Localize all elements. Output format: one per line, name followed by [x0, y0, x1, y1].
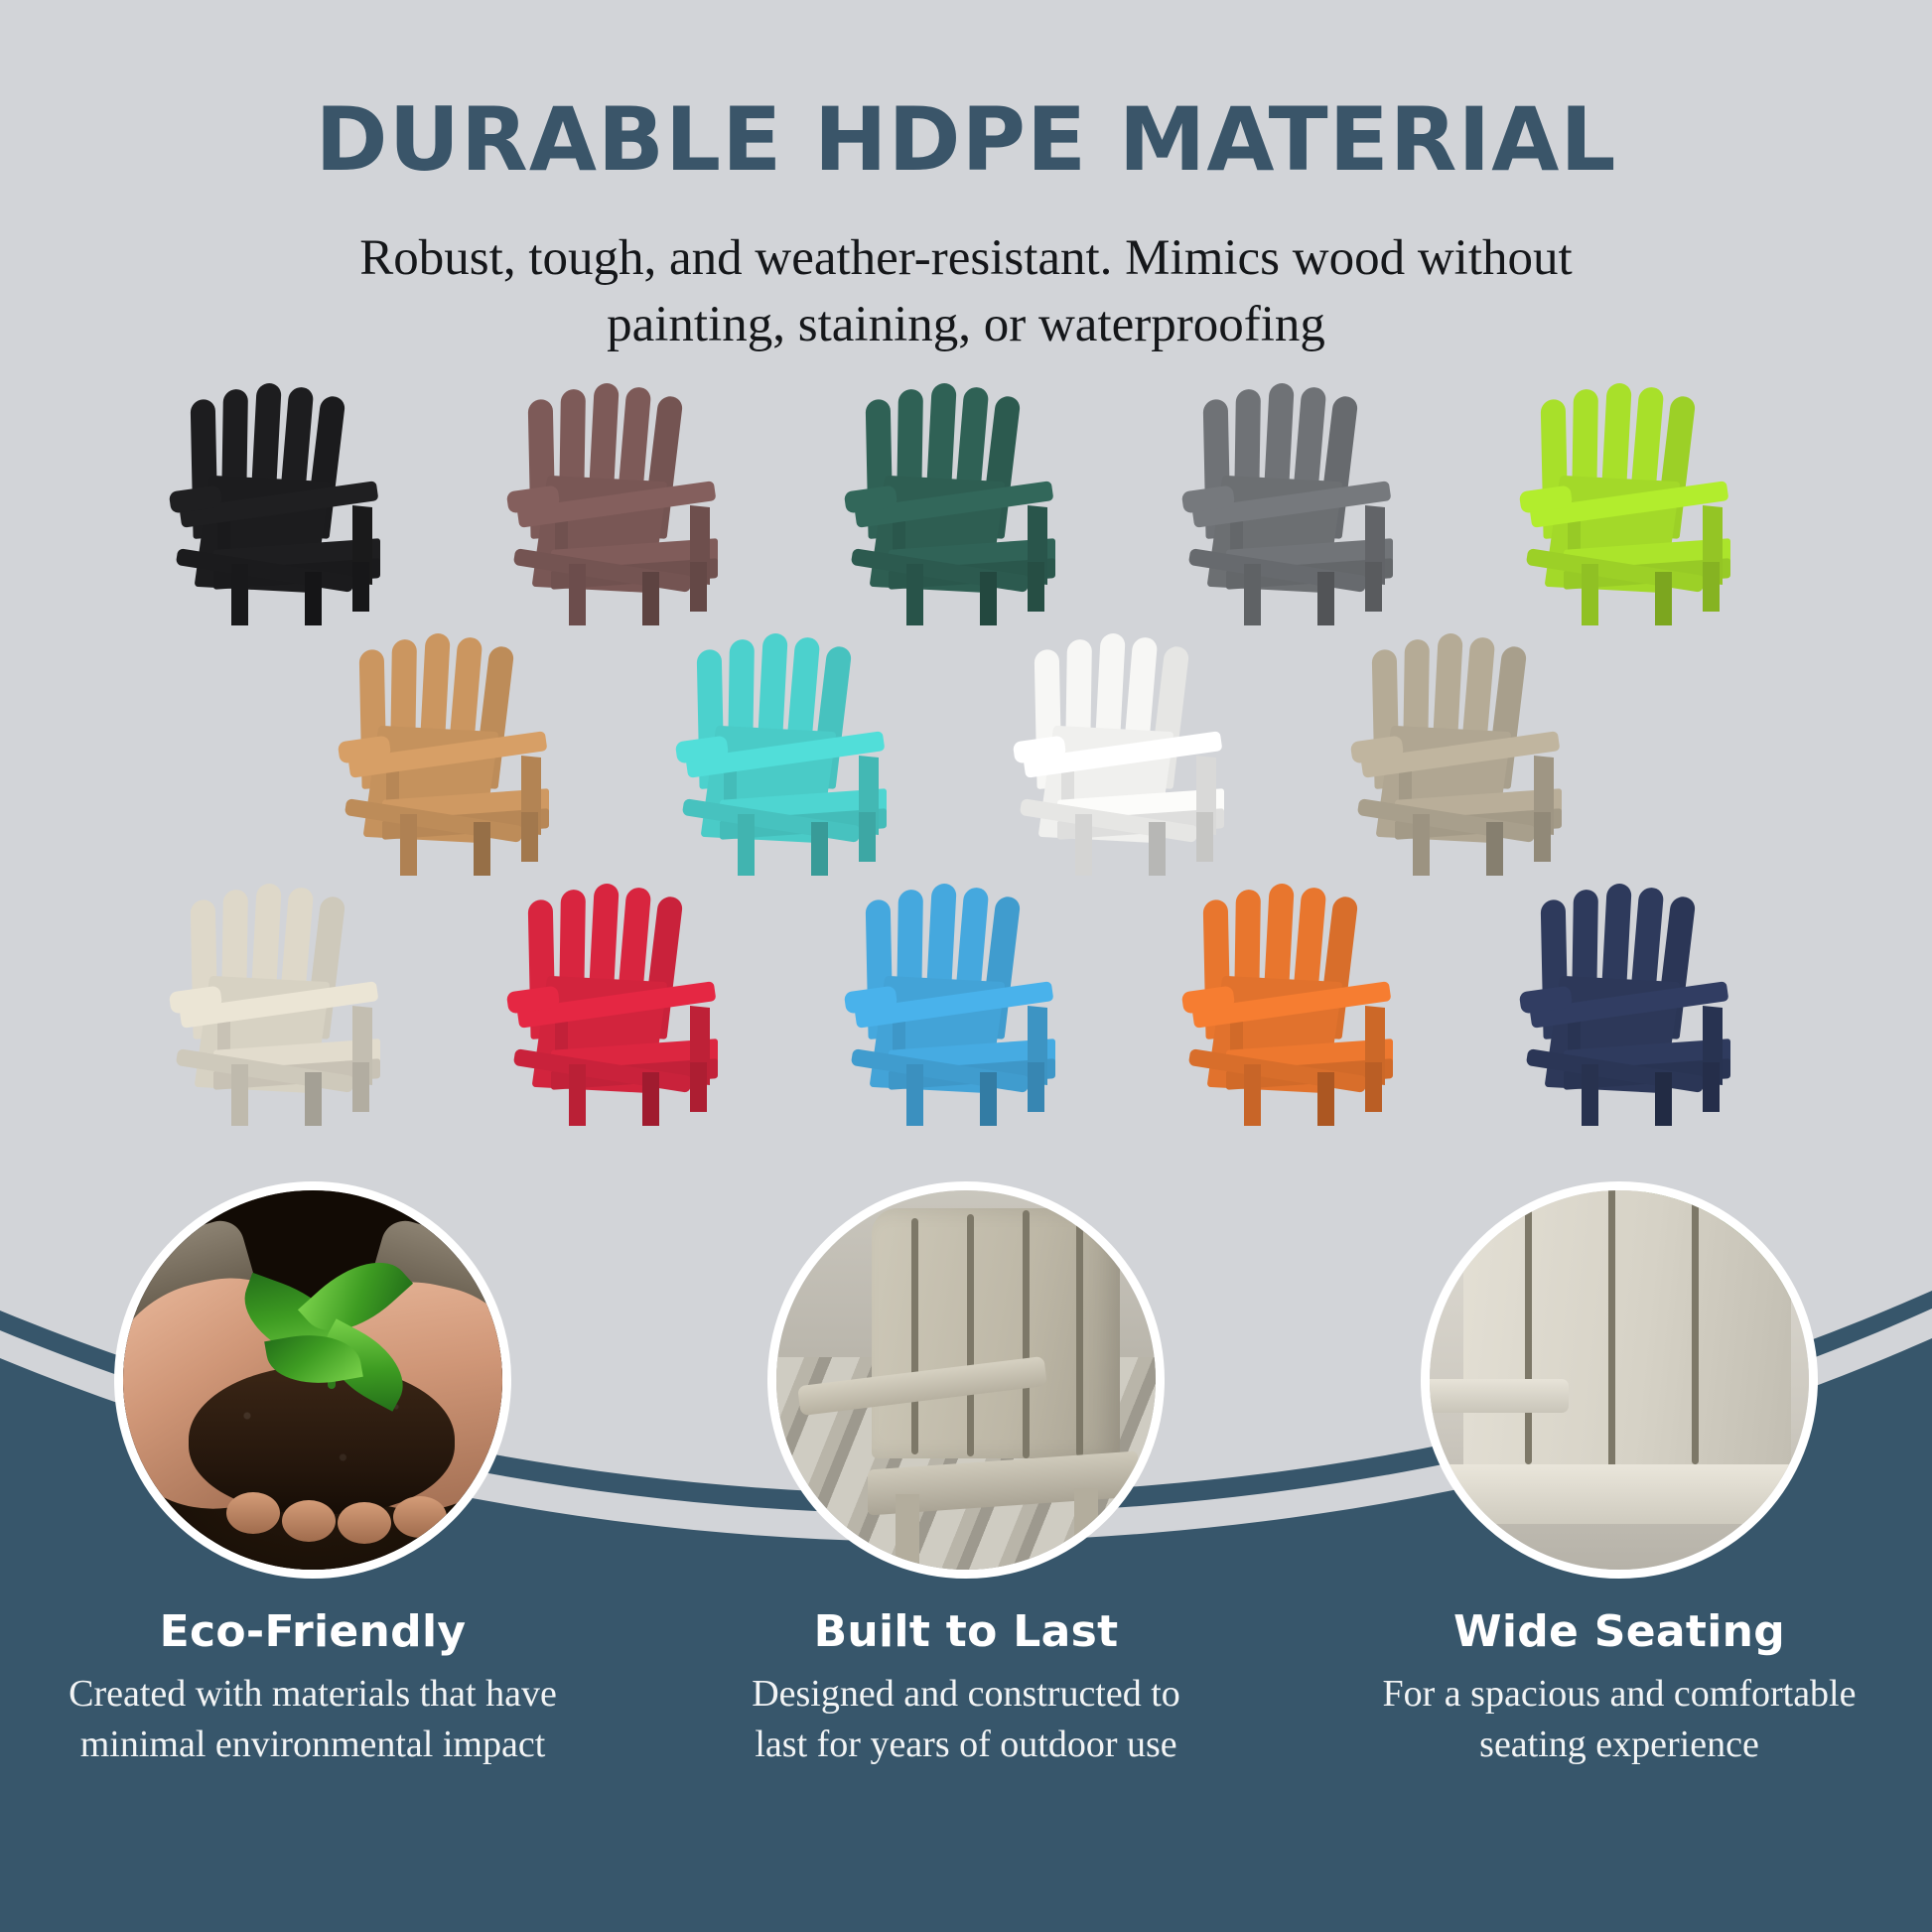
feature-photo-built-to-last — [767, 1181, 1165, 1579]
feature-title: Built to Last — [698, 1606, 1234, 1657]
chair-leg — [352, 562, 369, 612]
infographic-canvas: DURABLE HDPE MATERIAL Robust, tough, and… — [0, 0, 1932, 1932]
chair-leg — [1703, 562, 1720, 612]
feature-body-line-2: seating experience — [1351, 1720, 1887, 1770]
chair-leg — [1413, 814, 1430, 876]
chair-leg — [1582, 1064, 1598, 1126]
finger — [338, 1502, 391, 1544]
chair-row-1 — [0, 367, 1932, 623]
wide-seat-photo — [1430, 1190, 1809, 1570]
chair-leg — [569, 1064, 586, 1126]
feature-row: Eco-Friendly Created with materials that… — [0, 1181, 1932, 1769]
chair-leg — [1365, 1062, 1382, 1112]
chair-leg — [231, 564, 248, 625]
chair-leg — [690, 562, 707, 612]
chair-swatch-turquoise[interactable] — [664, 618, 930, 874]
adirondack-chair — [1339, 618, 1605, 874]
chair-leg — [859, 812, 876, 862]
feature-body: Designed and constructed to last for yea… — [698, 1669, 1234, 1769]
adirondack-chair — [833, 868, 1099, 1124]
chair-leg — [1196, 812, 1213, 862]
chair-backrest — [1463, 1181, 1791, 1478]
chair-leg — [1365, 562, 1382, 612]
chair-leg — [1317, 572, 1334, 625]
chair-leg — [896, 1494, 919, 1579]
chair-armrest — [1421, 1379, 1569, 1413]
chair-leg — [906, 564, 923, 625]
chair-row-2 — [0, 618, 1932, 874]
chair-leg — [642, 572, 659, 625]
chair-swatch-orange[interactable] — [1171, 868, 1437, 1124]
chair-leg — [305, 572, 322, 625]
finger — [393, 1496, 447, 1538]
chair-swatch-ivory[interactable] — [158, 868, 424, 1124]
chair-leg — [690, 1062, 707, 1112]
feature-body-line-2: minimal environmental impact — [45, 1720, 581, 1770]
chair-leg — [1534, 812, 1551, 862]
adirondack-chair — [1508, 868, 1774, 1124]
chair-swatch-red[interactable] — [495, 868, 761, 1124]
features-section: Eco-Friendly Created with materials that… — [0, 1181, 1932, 1769]
chair-leg — [980, 1072, 997, 1126]
patio-chair-photo — [776, 1190, 1156, 1570]
adirondack-chair — [664, 618, 930, 874]
feature-body-line-1: Designed and constructed to — [698, 1669, 1234, 1720]
chair-swatch-lime-green[interactable] — [1508, 367, 1774, 623]
back-slat-gap — [1525, 1181, 1532, 1464]
chair-leg — [811, 822, 828, 876]
chair-leg — [1655, 572, 1672, 625]
adirondack-chair — [158, 367, 424, 623]
finger — [282, 1500, 336, 1542]
adirondack-chair — [1508, 367, 1774, 623]
feature-title: Eco-Friendly — [45, 1606, 581, 1657]
seedling-photo — [123, 1190, 502, 1570]
feature-title: Wide Seating — [1351, 1606, 1887, 1657]
feature-body: Created with materials that have minimal… — [45, 1669, 581, 1769]
adirondack-chair — [1171, 868, 1437, 1124]
chair-swatch-khaki[interactable] — [1339, 618, 1605, 874]
chair-leg — [642, 1072, 659, 1126]
chair-leg — [1655, 1072, 1672, 1126]
feature-body: For a spacious and comfortable seating e… — [1351, 1669, 1887, 1769]
chair-leg — [980, 572, 997, 625]
chair-leg — [1149, 822, 1166, 876]
adirondack-chair — [833, 367, 1099, 623]
chair-leg — [906, 1064, 923, 1126]
back-slat-gap — [1023, 1210, 1030, 1458]
chair-leg — [521, 812, 538, 862]
back-slat-gap — [911, 1218, 918, 1454]
feature-built-to-last: Built to Last Designed and constructed t… — [698, 1181, 1234, 1769]
chair-leg — [305, 1072, 322, 1126]
chair-color-grid — [0, 367, 1932, 1124]
feature-photo-wide-seating — [1421, 1181, 1818, 1579]
feature-wide-seating: Wide Seating For a spacious and comforta… — [1351, 1181, 1887, 1769]
chair-leg — [1703, 1062, 1720, 1112]
adirondack-chair — [158, 868, 424, 1124]
chair-leg — [1244, 564, 1261, 625]
chair-leg — [474, 822, 490, 876]
chair-leg — [1028, 1062, 1044, 1112]
chair-leg — [1582, 564, 1598, 625]
chair-leg — [1075, 814, 1092, 876]
adirondack-chair — [495, 868, 761, 1124]
chair-swatch-dark-green[interactable] — [833, 367, 1099, 623]
chair-leg — [1317, 1072, 1334, 1126]
feature-body-line-1: For a spacious and comfortable — [1351, 1669, 1887, 1720]
chair-leg — [1028, 562, 1044, 612]
feature-eco-friendly: Eco-Friendly Created with materials that… — [45, 1181, 581, 1769]
adirondack-chair — [495, 367, 761, 623]
subtitle-line-2: painting, staining, or waterproofing — [0, 292, 1932, 357]
chair-swatch-white[interactable] — [1002, 618, 1268, 874]
chair-seat — [1440, 1464, 1818, 1524]
chair-leg — [231, 1064, 248, 1126]
back-slat-gap — [1608, 1181, 1615, 1468]
chair-leg — [1074, 1488, 1098, 1579]
header: DURABLE HDPE MATERIAL Robust, tough, and… — [0, 0, 1932, 357]
chair-backrest — [872, 1208, 1120, 1458]
back-slat-gap — [1076, 1214, 1083, 1456]
soil-mound — [189, 1365, 455, 1514]
chair-swatch-gray[interactable] — [1171, 367, 1437, 623]
chair-leg — [738, 814, 755, 876]
adirondack-chair — [1002, 618, 1268, 874]
feature-body-line-2: last for years of outdoor use — [698, 1720, 1234, 1770]
chair-row-3 — [0, 868, 1932, 1124]
chair-swatch-navy-blue[interactable] — [1508, 868, 1774, 1124]
finger — [226, 1492, 280, 1534]
page-title: DURABLE HDPE MATERIAL — [0, 94, 1932, 186]
feature-photo-eco-friendly — [114, 1181, 511, 1579]
chair-leg — [400, 814, 417, 876]
chair-leg — [1486, 822, 1503, 876]
chair-leg — [352, 1062, 369, 1112]
chair-swatch-brown[interactable] — [495, 367, 761, 623]
chair-swatch-teak[interactable] — [327, 618, 593, 874]
chair-leg — [569, 564, 586, 625]
chair-swatch-light-blue[interactable] — [833, 868, 1099, 1124]
feature-body-line-1: Created with materials that have — [45, 1669, 581, 1720]
subtitle-line-1: Robust, tough, and weather-resistant. Mi… — [0, 225, 1932, 291]
back-slat-gap — [1692, 1181, 1699, 1464]
chair-swatch-black[interactable] — [158, 367, 424, 623]
page-subtitle: Robust, tough, and weather-resistant. Mi… — [0, 225, 1932, 357]
adirondack-chair — [1171, 367, 1437, 623]
adirondack-chair — [327, 618, 593, 874]
chair-leg — [1244, 1064, 1261, 1126]
back-slat-gap — [967, 1214, 974, 1456]
